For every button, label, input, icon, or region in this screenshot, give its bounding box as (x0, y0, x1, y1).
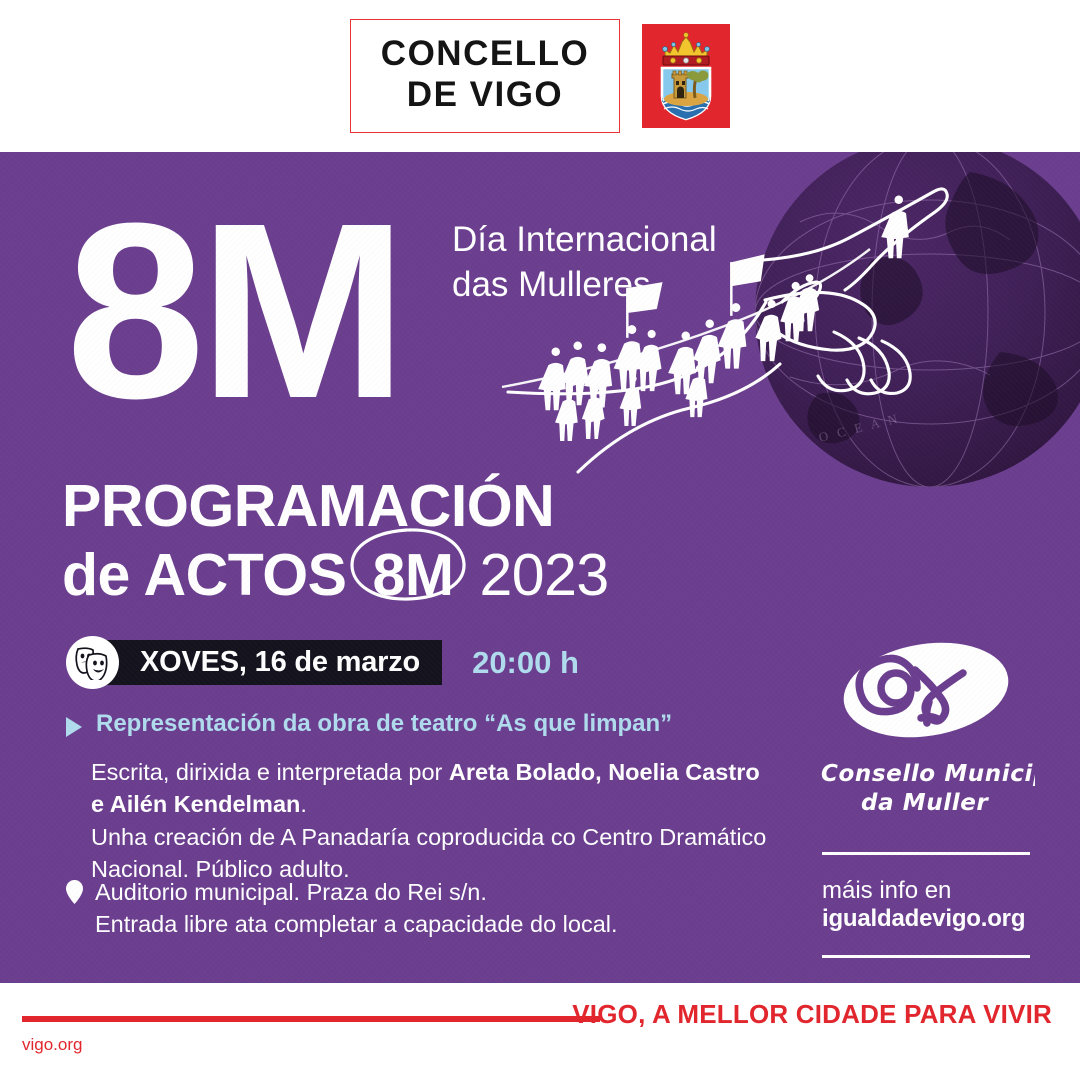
theater-masks-icon (66, 636, 119, 689)
event-title-row: Representación da obra de teatro “As que… (66, 710, 672, 738)
event-date-chip: XOVES, 16 de marzo (88, 640, 442, 685)
hero-tagline-line-2: das Mulleres (452, 263, 717, 308)
event-venue-lines: Auditorio municipal. Praza do Rei s/n. E… (95, 876, 618, 941)
footer-slogan: VIGO, A MELLOR CIDADE PARA VIVIR (572, 999, 1052, 1030)
event-credits-plain: Escrita, dirixida e interpretada por (91, 759, 449, 785)
event-credits-tail: . (300, 791, 307, 817)
hero-tagline-line-1: Día Internacional (452, 218, 717, 263)
event-venue-line-2: Entrada libre ata completar a capacidade… (95, 911, 618, 937)
event-description: Escrita, dirixida e interpretada por Are… (91, 756, 771, 886)
event-venue: Auditorio municipal. Praza do Rei s/n. E… (66, 876, 618, 941)
svg-text:da Muller: da Muller (861, 790, 989, 816)
program-title: PROGRAMACIÓN de ACTOS 8M 2023 (62, 477, 609, 605)
event-title: Representación da obra de teatro “As que… (96, 710, 672, 738)
wordmark-line-2: DE VIGO (381, 75, 589, 116)
main-purple-panel: O C E A N (0, 152, 1080, 983)
svg-text:O C E A N: O C E A N (817, 410, 901, 445)
triangle-bullet-icon (66, 717, 82, 737)
program-title-prefix: de ACTOS (62, 546, 347, 605)
event-description-paragraph-1: Escrita, dirixida e interpretada por Are… (91, 756, 771, 821)
footer-site-link[interactable]: vigo.org (22, 1035, 82, 1055)
hero-tagline: Día Internacional das Mulleres (452, 218, 717, 308)
divider-top (822, 852, 1030, 855)
location-pin-icon (66, 880, 83, 912)
more-info-url[interactable]: igualdadevigo.org (810, 905, 1042, 933)
site-footer: VIGO, A MELLOR CIDADE PARA VIVIR vigo.or… (0, 983, 1080, 1080)
eight-m-logotype: 8M (66, 192, 401, 430)
consello-municipal-da-muller-block: Consello Municipal da Muller máis info e… (810, 640, 1042, 958)
vigo-coat-of-arms-icon (642, 24, 730, 128)
svg-text:Consello Municipal: Consello Municipal (821, 761, 1035, 787)
site-header: CONCELLO DE VIGO (0, 0, 1080, 152)
program-year: 2023 (479, 546, 608, 605)
consello-municipal-da-muller-logo-icon (810, 640, 1042, 749)
event-time: 20:00 h (472, 645, 579, 681)
wordmark-line-1: CONCELLO (381, 34, 589, 75)
event-datetime-bar: XOVES, 16 de marzo 20:00 h (66, 640, 579, 685)
event-venue-line-1: Auditorio municipal. Praza do Rei s/n. (95, 879, 487, 905)
more-info-label: máis info en (810, 877, 1042, 905)
program-badge-8m: 8M (353, 546, 476, 605)
program-badge-label: 8M (373, 542, 454, 608)
concello-de-vigo-wordmark: CONCELLO DE VIGO (350, 19, 620, 133)
footer-rule (22, 1016, 600, 1022)
program-title-line-1: PROGRAMACIÓN (62, 477, 609, 536)
consello-municipal-da-muller-wordmark: Consello Municipal da Muller (810, 755, 1042, 826)
divider-bottom (822, 955, 1030, 958)
program-title-line-2: de ACTOS 8M 2023 (62, 546, 609, 605)
hand-globe-illustration: O C E A N (500, 152, 1080, 502)
event-date: XOVES, 16 de marzo (140, 646, 420, 679)
poster-root: CONCELLO DE VIGO (0, 0, 1080, 1080)
